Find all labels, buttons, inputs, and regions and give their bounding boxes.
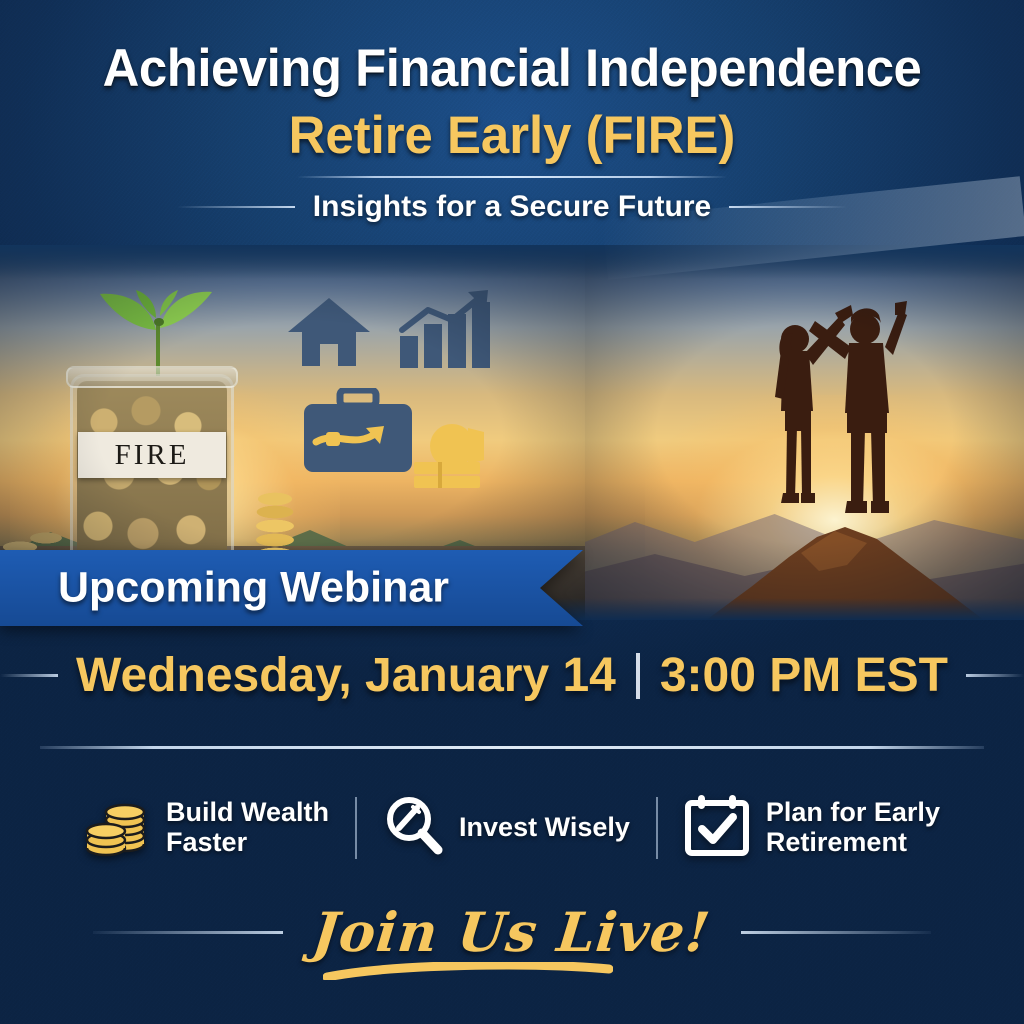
page-title-line1: Achieving Financial Independence [20,38,1003,99]
hero-right-photo [585,245,1024,620]
jar-rim [66,366,238,388]
sprout-plant-icon [92,290,222,376]
jar-label: FIRE [78,432,226,478]
features-row: Build Wealth Faster Invest Wisely [0,780,1024,875]
header-block: Achieving Financial Independence Retire … [0,0,1024,224]
tagline-dash-left [177,206,295,208]
briefcase-icon [302,388,414,479]
poster-canvas: Achieving Financial Independence Retire … [0,0,1024,1024]
couple-silhouette [755,301,915,556]
page-title-line2: Retire Early (FIRE) [20,105,1003,166]
upcoming-webinar-ribbon: Upcoming Webinar [0,550,583,626]
title-underline-rule [297,176,727,178]
footer-cta-row: Join Us Live! [0,900,1024,964]
feature-line2: Faster [166,828,329,858]
jar-label-text: FIRE [115,439,190,472]
event-datetime: Wednesday, January 14 3:00 PM EST [76,648,948,703]
join-underline-swoosh [323,962,613,980]
feature-plan-for-early-retirement: Plan for Early Retirement [658,793,966,862]
cash-coins-icon [408,422,496,501]
tagline-text: Insights for a Secure Future [313,190,711,224]
event-time: 3:00 PM EST [660,648,948,703]
hero-icon-cluster [280,270,500,500]
feature-invest-wisely: Invest Wisely [357,794,656,861]
feature-line1: Plan for Early [766,798,940,828]
feature-line1: Build Wealth [166,798,329,828]
join-us-live-text: Join Us Live! [310,900,714,964]
ribbon-label: Upcoming Webinar [58,564,449,613]
event-date: Wednesday, January 14 [76,648,616,703]
feature-line2: Retirement [766,828,940,858]
house-icon [286,296,372,373]
footer-dash-left [93,931,283,934]
footer-dash-right [741,931,931,934]
tagline-row: Insights for a Secure Future [0,190,1024,224]
coin-stack-icon [84,792,150,863]
money-jar: FIRE [62,324,242,574]
datetime-dash-left [0,674,58,677]
feature-build-wealth-faster: Build Wealth Faster [58,792,355,863]
features-top-divider [40,746,984,749]
event-separator [636,653,640,699]
tagline-dash-right [729,206,847,208]
datetime-dash-right [966,674,1024,677]
calendar-check-icon [684,793,750,862]
join-us-live-cta[interactable]: Join Us Live! [305,900,718,964]
feature-label-invest-wisely: Invest Wisely [459,813,630,843]
feature-line1: Invest Wisely [459,813,630,843]
event-datetime-row: Wednesday, January 14 3:00 PM EST [0,648,1024,703]
hero-top-fade [0,245,1024,279]
bar-chart-growth-icon [398,290,496,375]
feature-label-build-wealth: Build Wealth Faster [166,798,329,857]
magnifier-icon [383,794,443,861]
feature-label-plan-retirement: Plan for Early Retirement [766,798,940,857]
